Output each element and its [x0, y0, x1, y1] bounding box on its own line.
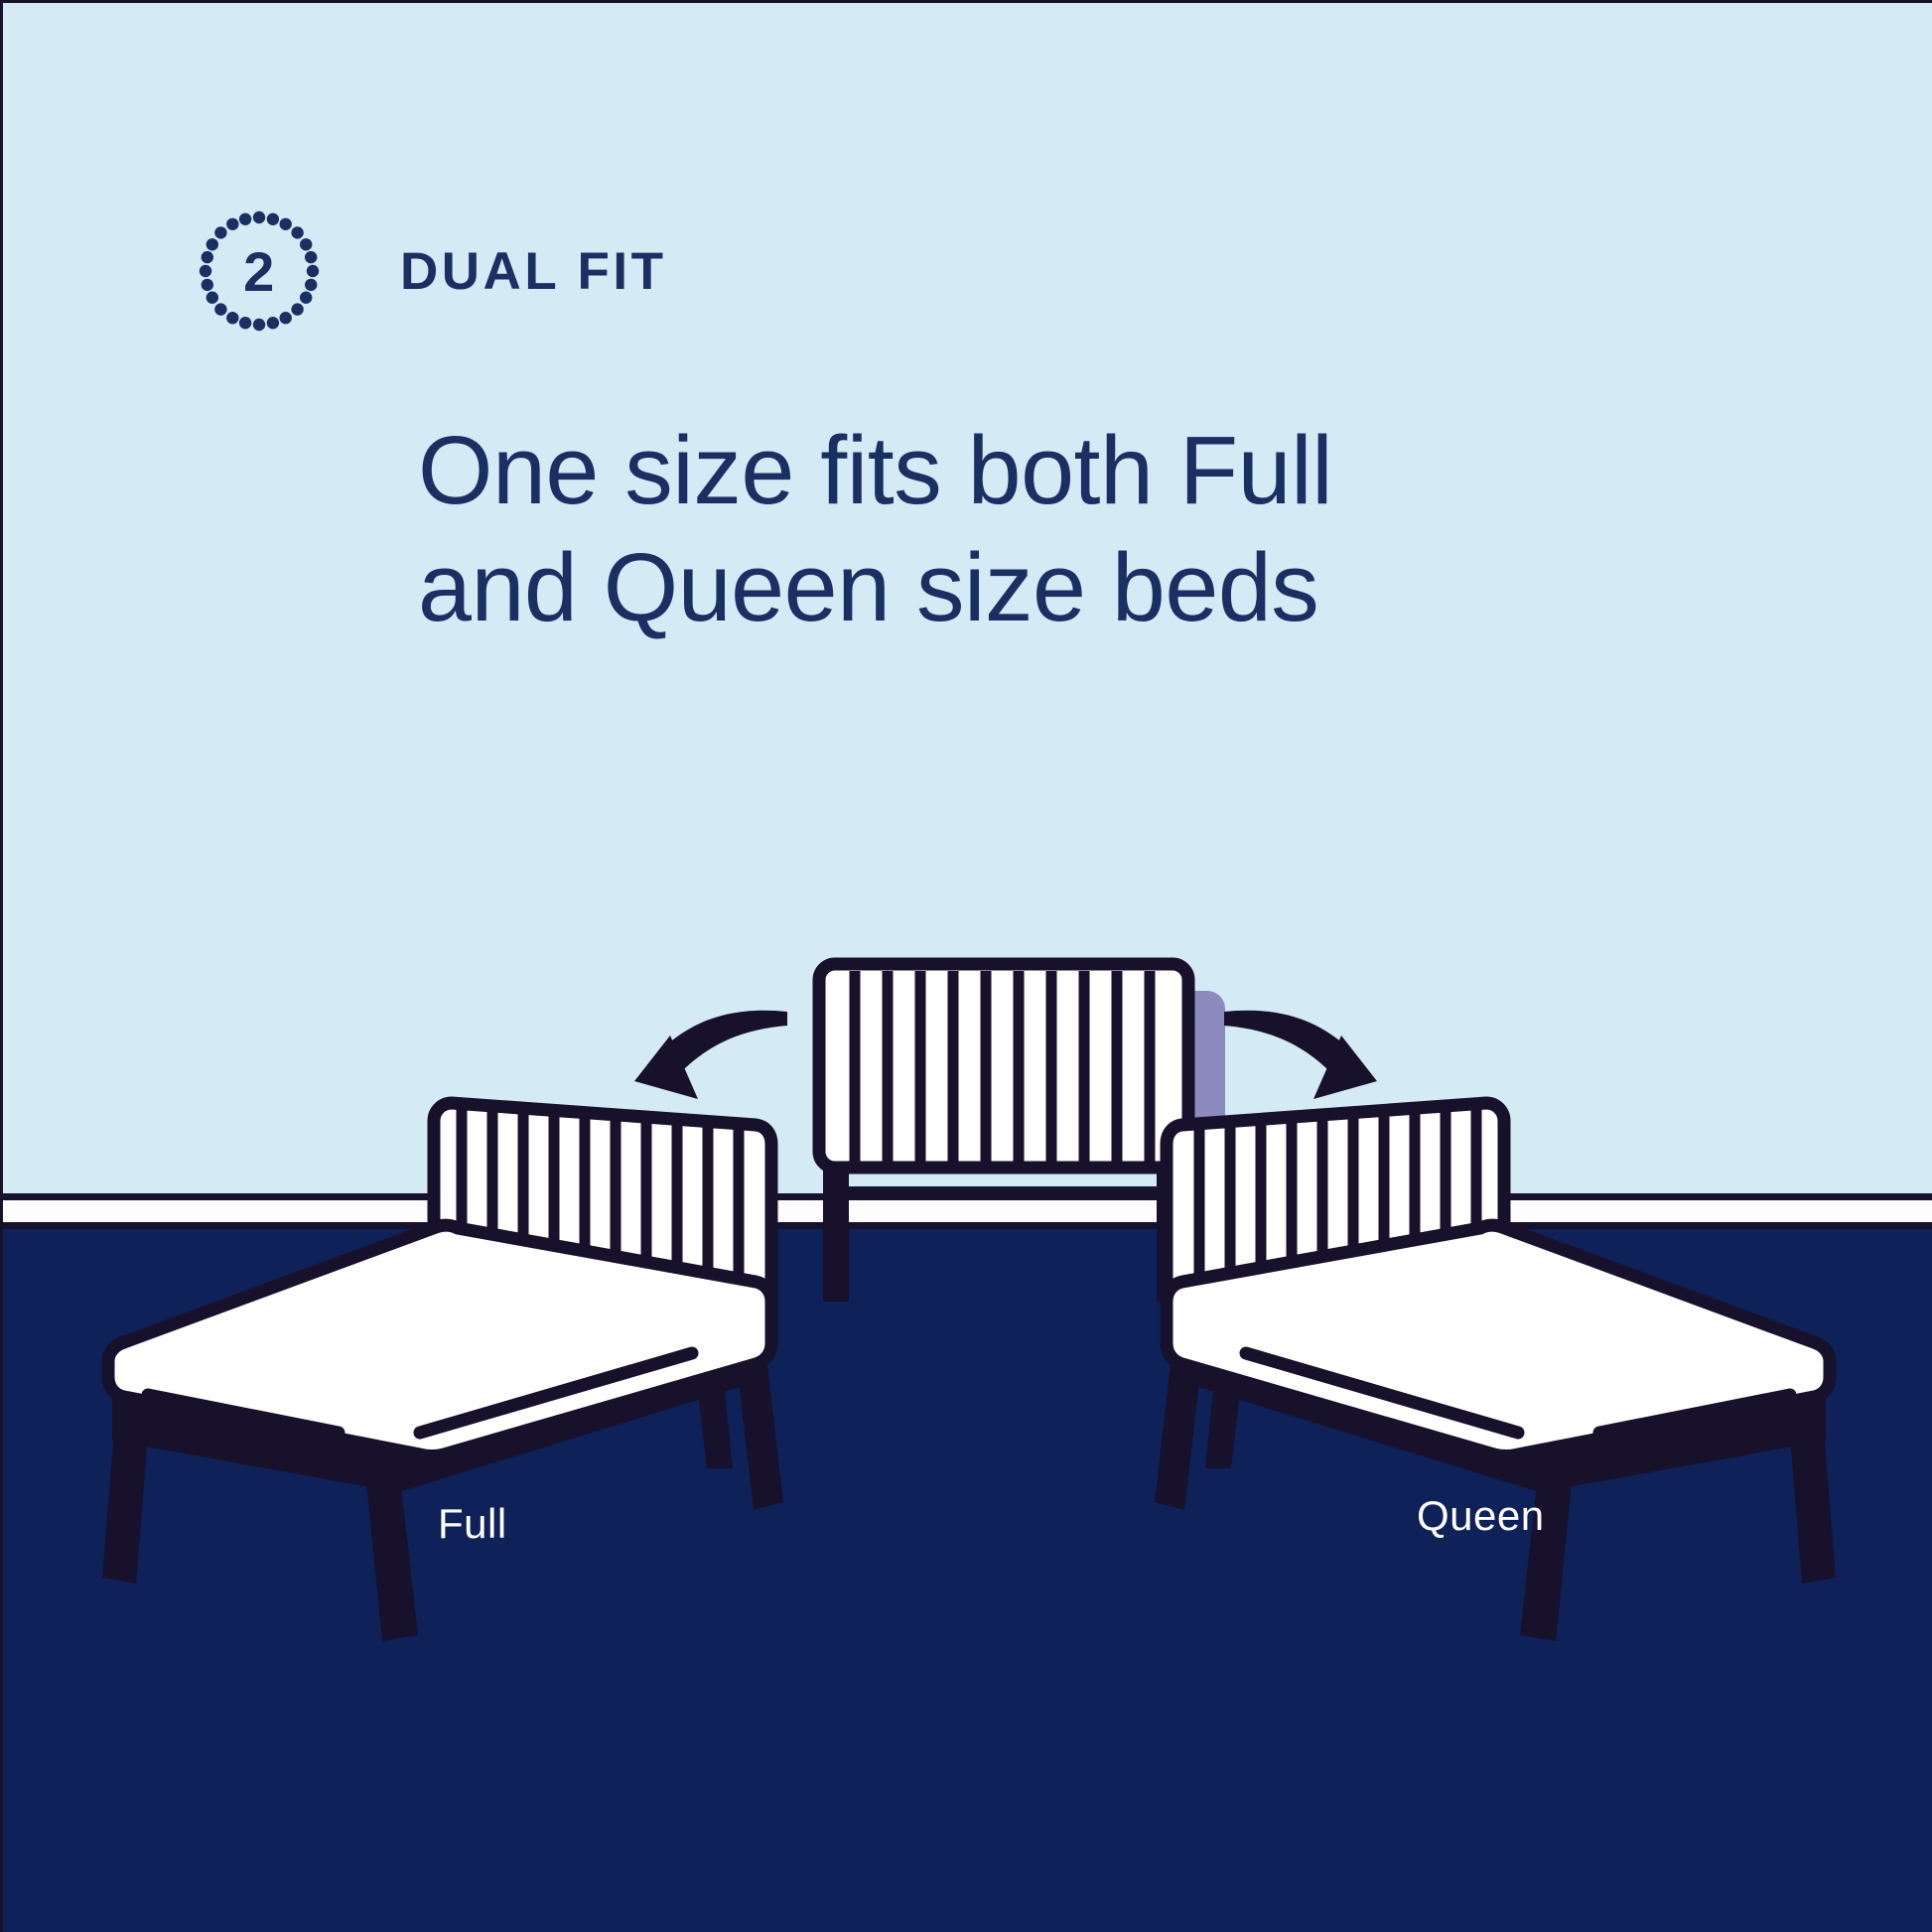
full-size-bed-icon	[102, 1103, 783, 1641]
dual-fit-poster: 2 DUAL FIT One size fits both Full and Q…	[0, 0, 1932, 1932]
label-queen-bed: Queen	[1417, 1492, 1545, 1540]
bed-illustration	[3, 3, 1932, 1932]
curved-arrow-left-icon	[634, 1011, 787, 1099]
label-full-bed: Full	[438, 1500, 507, 1548]
